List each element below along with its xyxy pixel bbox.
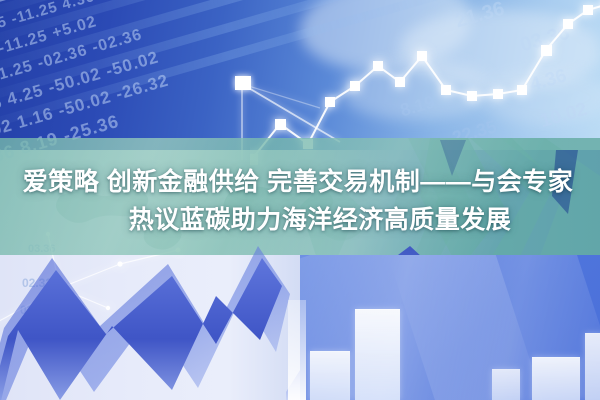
- headline-line-1: 爱策略 创新金融供给 完善交易机制——与会专家: [0, 163, 600, 201]
- banner-image: -25.36 -11.25 21.36 -58.02 -02.35 45.02 …: [0, 0, 600, 400]
- bar: [532, 357, 580, 400]
- bar-chart-panel: [300, 255, 600, 400]
- bar: [310, 351, 350, 400]
- bar: [355, 309, 400, 400]
- headline-line-2: 热议蓝碳助力海洋经济高质量发展: [0, 201, 600, 239]
- bar: [492, 369, 520, 400]
- headline: 爱策略 创新金融供给 完善交易机制——与会专家 热议蓝碳助力海洋经济高质量发展: [0, 163, 600, 239]
- bar: [585, 333, 600, 400]
- white-sliver: [288, 300, 306, 400]
